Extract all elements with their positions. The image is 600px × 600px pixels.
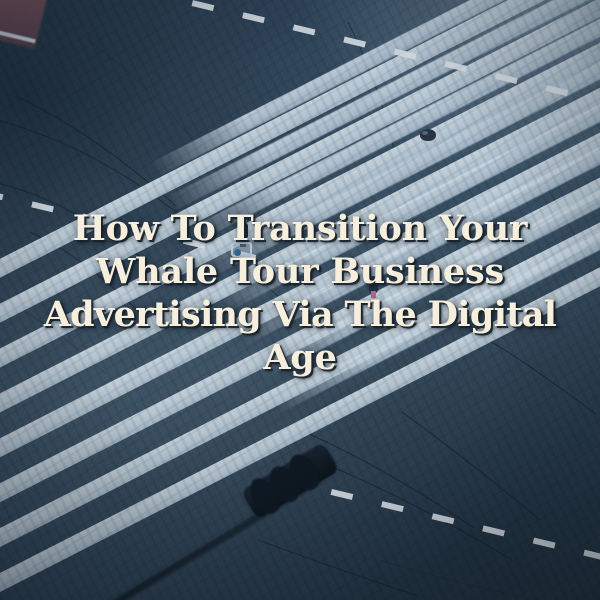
pedestrian-highlight	[422, 131, 428, 135]
title-line-3: Advertising Via The Digital	[14, 293, 586, 336]
title-card: How To Transition Your Whale Tour Busine…	[0, 0, 600, 600]
title-line-4: Age	[14, 336, 586, 379]
title-line-1: How To Transition Your	[14, 207, 586, 250]
pedestrian-upper	[420, 129, 436, 141]
title-overlay: How To Transition Your Whale Tour Busine…	[0, 207, 600, 379]
title-line-2: Whale Tour Business	[14, 250, 586, 293]
